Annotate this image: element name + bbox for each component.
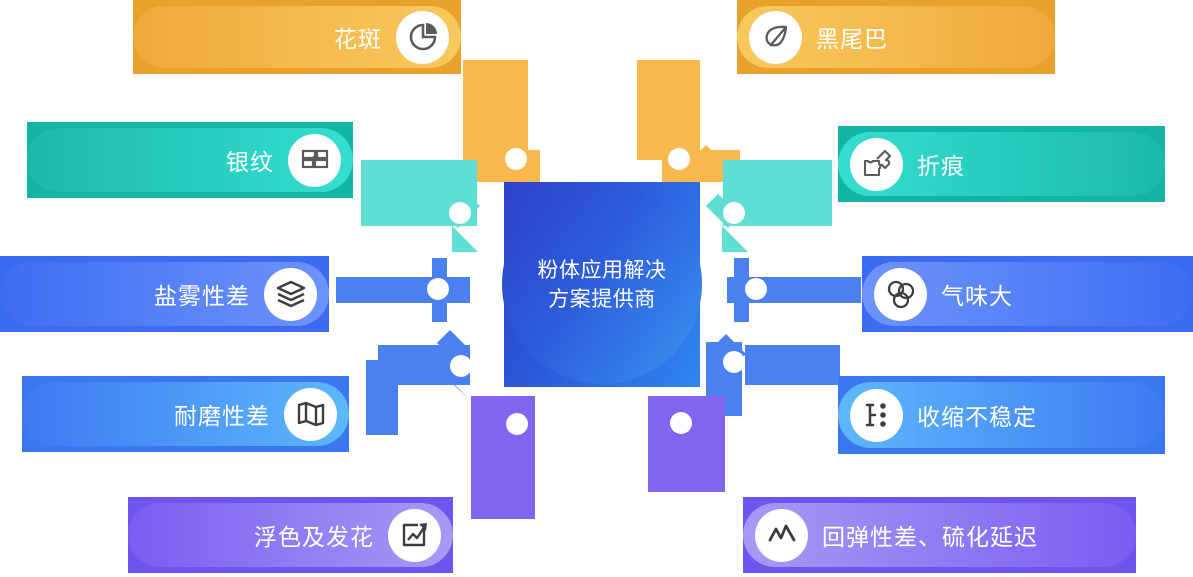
node-zhehen[interactable]: 折痕 (838, 126, 1165, 202)
node-label: 花斑 (334, 20, 382, 54)
center-hub[interactable]: 粉体应用解决 方案提供商 (504, 182, 700, 387)
node-body: 黑尾巴 (737, 6, 1055, 68)
node-label: 浮色及发花 (254, 518, 374, 552)
connector-right-4 (706, 334, 840, 416)
node-body: 盐雾性差 (0, 262, 329, 326)
connector-node-dot (668, 148, 690, 170)
node-huaban[interactable]: 花斑 (133, 0, 461, 74)
node-label: 盐雾性差 (154, 277, 250, 311)
node-body: 回弹性差、硫化延迟 (743, 503, 1136, 567)
leaf-icon (749, 11, 802, 64)
connector-node-dot (450, 355, 472, 377)
node-label: 回弹性差、硫化延迟 (822, 518, 1038, 552)
node-yanwuxingcha[interactable]: 盐雾性差 (0, 256, 329, 332)
node-huitanxingcha[interactable]: 回弹性差、硫化延迟 (743, 497, 1136, 573)
connector-node-dot (745, 278, 767, 300)
pie-chart-icon (396, 11, 449, 64)
node-qiweida[interactable]: 气味大 (862, 256, 1193, 332)
node-label: 黑尾巴 (816, 20, 888, 54)
line-chart-icon (755, 509, 808, 562)
brick-wall-icon (288, 134, 341, 187)
puzzle-icon (850, 138, 903, 191)
node-yinwen[interactable]: 银纹 (27, 122, 353, 198)
trend-up-box-icon (388, 509, 441, 562)
node-body: 花斑 (133, 6, 461, 68)
node-label: 气味大 (941, 277, 1013, 311)
node-heiweiba[interactable]: 黑尾巴 (737, 0, 1055, 74)
node-label: 折痕 (917, 147, 965, 181)
connector-node-dot (723, 351, 745, 373)
connector-left-2 (361, 160, 480, 252)
diagram-canvas: 粉体应用解决 方案提供商 花斑 银纹 (0, 0, 1193, 577)
map-icon (284, 388, 337, 441)
node-label: 耐磨性差 (174, 397, 270, 431)
connector-left-3 (336, 258, 470, 322)
layers-icon (264, 268, 317, 321)
node-body: 耐磨性差 (22, 382, 349, 446)
node-body: 收缩不稳定 (838, 382, 1165, 448)
shrink-dots-icon (850, 389, 903, 442)
node-body: 折痕 (838, 132, 1165, 196)
connector-node-dot (449, 202, 471, 224)
connector-right-3 (727, 258, 861, 322)
node-shousuobuwending[interactable]: 收缩不稳定 (838, 376, 1165, 454)
node-label: 收缩不稳定 (917, 398, 1037, 432)
connector-node-dot (505, 148, 527, 170)
connector-left-5 (471, 396, 535, 519)
connector-node-dot (427, 278, 449, 300)
connector-left-4 (366, 330, 472, 435)
node-naimoxingcha[interactable]: 耐磨性差 (22, 376, 349, 452)
connector-node-dot (506, 413, 528, 435)
node-body: 浮色及发花 (128, 503, 453, 567)
odor-rings-icon (874, 268, 927, 321)
connector-node-dot (670, 412, 692, 434)
center-hub-label: 粉体应用解决 方案提供商 (504, 182, 700, 387)
node-label: 银纹 (226, 143, 274, 177)
connector-right-2 (706, 160, 832, 252)
node-body: 气味大 (862, 262, 1193, 326)
node-body: 银纹 (27, 128, 353, 192)
connector-node-dot (723, 202, 745, 224)
node-fusejifahua[interactable]: 浮色及发花 (128, 497, 453, 573)
connector-right-5 (648, 396, 725, 492)
